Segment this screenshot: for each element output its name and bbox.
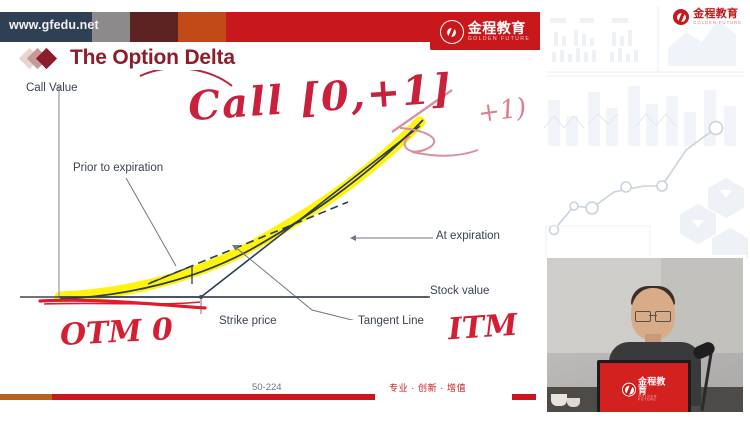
brand-logo-header: 金程教育 GOLDEN FUTURE <box>430 14 540 50</box>
panel-brand-name-cn: 金程教育 <box>693 9 742 20</box>
chart-svg <box>0 70 540 320</box>
brand-name-cn: 金程教育 <box>468 21 531 35</box>
site-url-badge: www.gfedu.net <box>0 12 92 42</box>
right-panel: 金程教育 GOLDEN FUTURE <box>540 0 750 422</box>
label-strike-price: Strike price <box>219 315 277 327</box>
laptop-brand-seal-icon <box>622 383 636 397</box>
slide-footer: 50-224 专业 · 创新 · 增值 <box>0 388 540 404</box>
label-tangent-line: Tangent Line <box>358 315 424 327</box>
brand-name-en: GOLDEN FUTURE <box>468 37 531 42</box>
site-url-text: www.gfedu.net <box>9 18 99 32</box>
label-at-expiration: At expiration <box>436 230 500 242</box>
webcam-frame: 金程教育 GOLDEN FUTURE <box>547 258 743 412</box>
axis-label-call-value: Call Value <box>26 82 78 94</box>
eyeglasses-icon <box>635 311 671 320</box>
brand-seal-icon-small <box>672 8 690 26</box>
footer-slogan: 专业 · 创新 · 增值 <box>389 381 466 394</box>
laptop-with-brand-decal: 金程教育 GOLDEN FUTURE <box>597 360 691 415</box>
strike-price-marker <box>199 295 203 299</box>
highlight-stroke <box>60 122 420 297</box>
instructor-webcam-video[interactable]: 金程教育 GOLDEN FUTURE <box>544 255 746 415</box>
presentation-slide: www.gfedu.net 金程教育 GOLDEN FUTURE The Opt… <box>0 0 540 422</box>
laptop-brand-name-cn: 金程教育 <box>638 378 666 396</box>
header-color-block-orange <box>178 12 226 42</box>
footer-bar-left <box>0 394 52 400</box>
ink-arc-title <box>140 70 232 86</box>
page-title: The Option Delta <box>70 46 235 70</box>
slide-title-row: The Option Delta <box>22 46 235 70</box>
cup-secondary <box>567 398 580 407</box>
axis-label-stock-value: Stock value <box>430 285 489 297</box>
diamond-bullet-icon <box>22 48 62 68</box>
brand-logo-panel: 金程教育 GOLDEN FUTURE <box>672 8 742 26</box>
brand-seal-icon <box>440 20 464 44</box>
prior-to-expiration-curve <box>60 120 423 299</box>
slide-page-number: 50-224 <box>252 382 282 393</box>
laptop-brand-name-en: GOLDEN FUTURE <box>638 396 666 403</box>
panel-brand-name-en: GOLDEN FUTURE <box>693 21 742 25</box>
option-delta-chart: Call Value Prior to expiration At expira… <box>0 70 540 320</box>
footer-bar-main <box>52 394 375 400</box>
cup <box>551 394 567 406</box>
leader-prior-to-expiration <box>126 178 176 266</box>
slide-header: www.gfedu.net 金程教育 GOLDEN FUTURE <box>0 12 540 42</box>
header-color-block-maroon <box>130 12 178 42</box>
label-prior-to-expiration: Prior to expiration <box>73 162 163 174</box>
screen: www.gfedu.net 金程教育 GOLDEN FUTURE The Opt… <box>0 0 750 422</box>
footer-bar-right <box>512 394 536 400</box>
arrow-at-expiration <box>350 235 356 241</box>
at-expiration-line <box>59 126 420 297</box>
